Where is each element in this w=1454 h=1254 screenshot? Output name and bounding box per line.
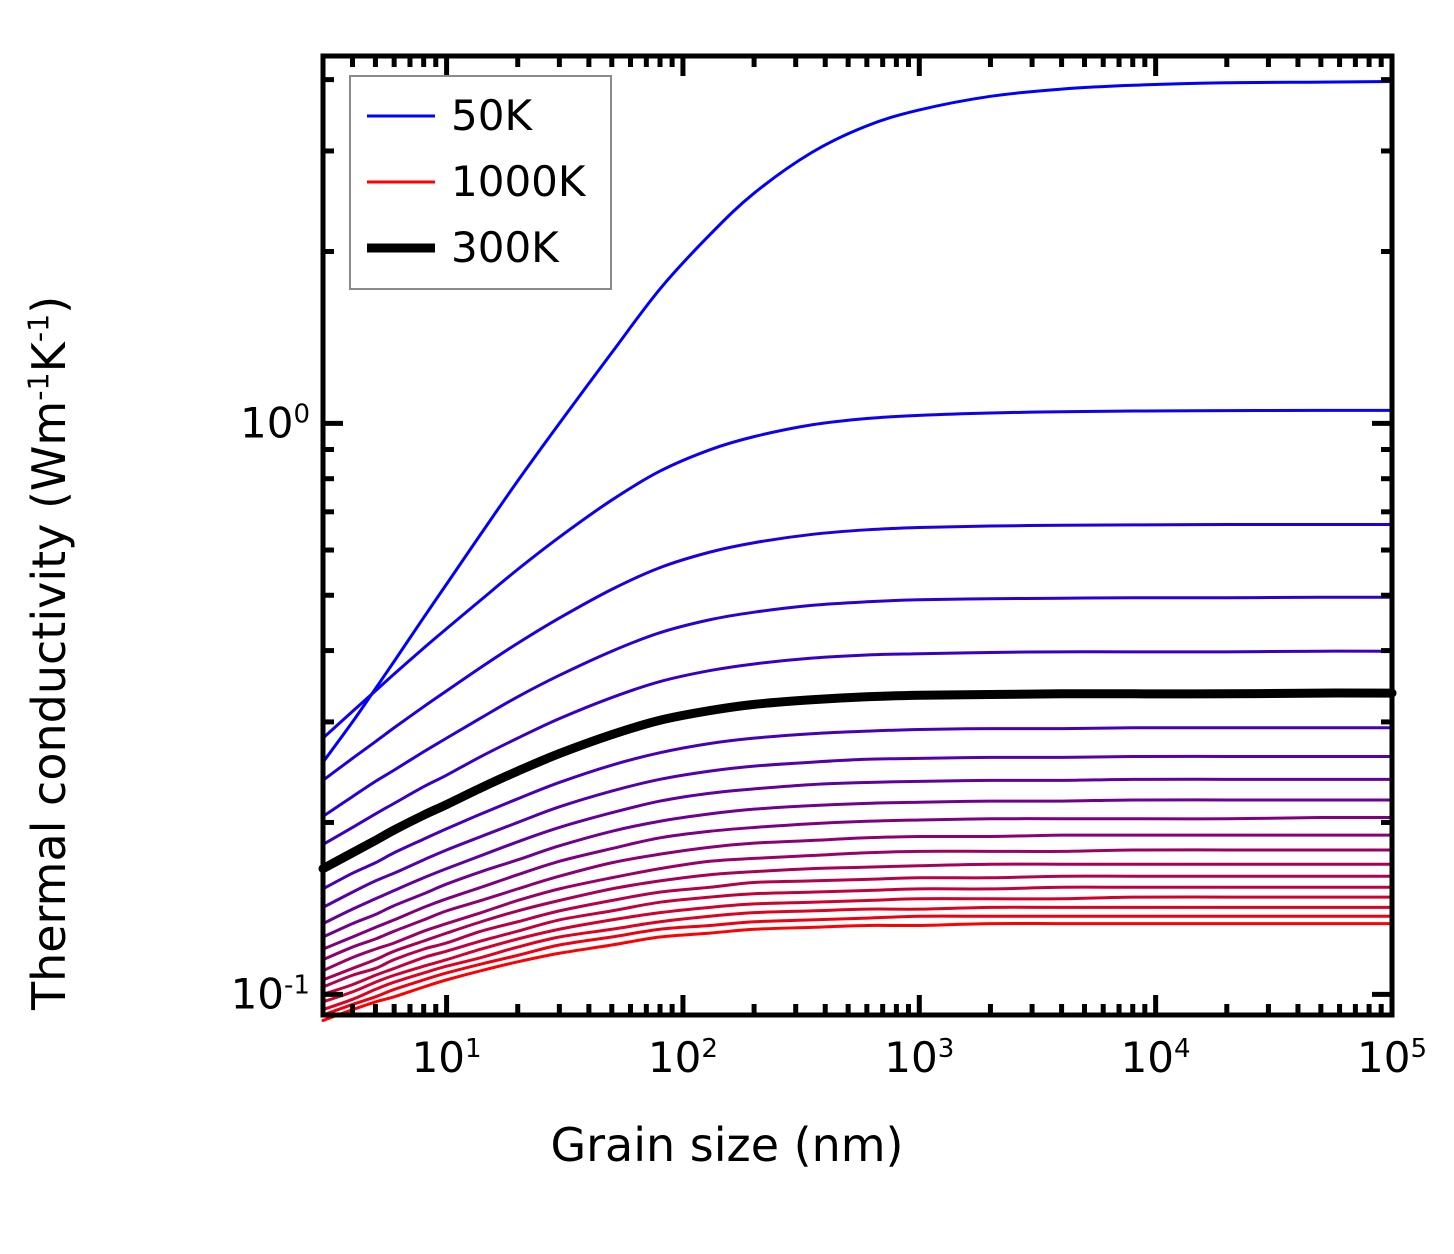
- x-tick-label-100: 102: [648, 1033, 718, 1082]
- curve-250K: [323, 651, 1392, 844]
- x-tick-label-1000: 103: [884, 1033, 954, 1082]
- y-tick-label-1: 100: [170, 399, 310, 448]
- y-axis-title-suffix: ): [22, 296, 76, 314]
- y-tick-label-0.1: 10-1: [170, 970, 310, 1019]
- legend-label-1000K: 1000K: [451, 161, 585, 203]
- legend-label-50K: 50K: [451, 95, 532, 137]
- x-tick-label-100000: 105: [1357, 1033, 1427, 1082]
- curve-800K: [323, 887, 1392, 994]
- x-tick-label-10000: 104: [1121, 1033, 1191, 1082]
- x-tick-label-10: 101: [412, 1033, 482, 1082]
- y-axis-title-exponent-2: -1: [23, 314, 56, 342]
- figure-canvas: 101102103104105 10010-1 50K1000K300K Gra…: [0, 0, 1454, 1254]
- plot-area: [0, 0, 1454, 1254]
- x-axis-title: Grain size (nm): [0, 1118, 1454, 1172]
- y-axis-title-exponent-1: -1: [23, 372, 56, 400]
- curve-300K: [323, 693, 1392, 869]
- curve-1000K: [323, 923, 1392, 1020]
- y-axis-title-text: Thermal conductivity (Wm: [22, 401, 76, 1010]
- curve-100K: [323, 410, 1392, 738]
- y-axis-title-mid: K: [22, 342, 76, 372]
- legend-label-300K: 300K: [451, 227, 559, 269]
- legend-entry-300K[interactable]: 300K: [351, 217, 610, 279]
- legend-entry-1000K[interactable]: 1000K: [351, 151, 610, 213]
- legend-entry-50K[interactable]: 50K: [351, 85, 610, 147]
- legend[interactable]: 50K1000K300K: [349, 75, 612, 290]
